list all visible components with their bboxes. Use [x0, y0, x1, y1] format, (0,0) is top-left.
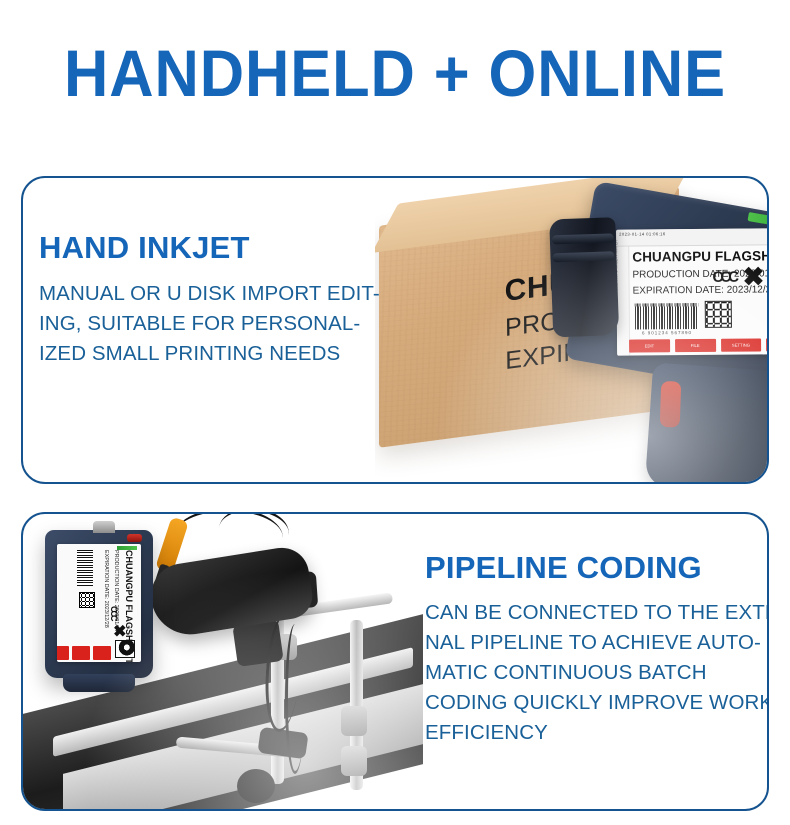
- barcode-icon: [77, 550, 93, 586]
- label-red-button-row: EDIT FILE SETTING STORE: [629, 337, 767, 354]
- battery-indicator-icon: [747, 212, 767, 230]
- label-red-button-column: [57, 646, 111, 660]
- product-label: 2023-01-14 01:06:16 CHUANGPU INKJET PRIN…: [616, 228, 767, 356]
- feature-panel-hand-inkjet: CHU PRODU EXPIRA 2023-01-14 01:06:16 CHU…: [21, 176, 769, 484]
- bracket-clamp-upper: [341, 706, 367, 736]
- ccc-certification-icon: CCC: [109, 606, 119, 620]
- qr-code-icon: [79, 592, 95, 608]
- marketing-banner: HANDHELD + ONLINE CHU PRODU EXPIRA 2023-…: [0, 0, 790, 825]
- printer-power-button: [127, 534, 142, 542]
- handheld-inkjet-printer: 2023-01-14 01:06:16 CHUANGPU INKJET PRIN…: [537, 178, 767, 482]
- printer-trigger-button: [660, 381, 682, 428]
- hand-inkjet-text-block: HAND INKJET MANUAL OR U DISK IMPORT EDIT…: [39, 230, 380, 369]
- barcode-number: 6 901234 567890: [635, 330, 699, 336]
- pipeline-coding-text-block: PIPELINE CODING CAN BE CONNECTED TO THE …: [425, 550, 769, 748]
- barcode-icon: [635, 303, 699, 330]
- panel-heading-hand-inkjet: HAND INKJET: [39, 230, 380, 266]
- product-label: CHUANGPU FLAGSHIP STORE PRODUCTION DATE:…: [57, 544, 141, 662]
- hand-inkjet-photo: CHU PRODU EXPIRA 2023-01-14 01:06:16 CHU…: [375, 178, 767, 482]
- red-tag-1: [93, 646, 111, 660]
- panel-heading-pipeline-coding: PIPELINE CODING: [425, 550, 769, 586]
- red-tag-store: STORE: [766, 338, 767, 351]
- x-mark-icon: ✖: [111, 624, 125, 637]
- ccc-certification-icon: CCC: [712, 269, 736, 286]
- label-rotated-content: CHUANGPU FLAGSHIP STORE PRODUCTION DATE:…: [57, 544, 141, 662]
- panel-body-pipeline-coding: CAN BE CONNECTED TO THE EXTER- NAL PIPEL…: [425, 598, 769, 748]
- printer-nozzle: [549, 217, 619, 337]
- red-tag-2: [73, 646, 91, 660]
- page-title: HANDHELD + ONLINE: [28, 38, 763, 108]
- printer-port-cap: [93, 521, 115, 533]
- red-tag-3: [57, 646, 70, 660]
- mounted-inkjet-printer: CHUANGPU FLAGSHIP STORE PRODUCTION DATE:…: [45, 530, 153, 678]
- red-tag-edit: EDIT: [629, 339, 670, 352]
- qr-code-icon: [705, 301, 732, 328]
- bracket-clamp-lower: [341, 746, 367, 776]
- cable-loop-2: [285, 624, 305, 774]
- red-tag-file: FILE: [675, 339, 716, 352]
- feature-panel-pipeline-coding: CHUANGPU FLAGSHIP STORE PRODUCTION DATE:…: [21, 512, 769, 811]
- printer-base-foot: [63, 674, 135, 692]
- panel-body-hand-inkjet: MANUAL OR U DISK IMPORT EDIT- ING, SUITA…: [39, 279, 380, 369]
- pipeline-coding-photo: CHUANGPU FLAGSHIP STORE PRODUCTION DATE:…: [23, 514, 423, 809]
- cable-coil: [237, 769, 275, 803]
- warning-pictogram-icon: [115, 640, 135, 658]
- red-tag-setting: SETTING: [721, 338, 762, 351]
- x-mark-icon: ✖: [742, 264, 767, 290]
- label-timestamp-strip: 2023-01-14 01:06:16: [616, 228, 767, 247]
